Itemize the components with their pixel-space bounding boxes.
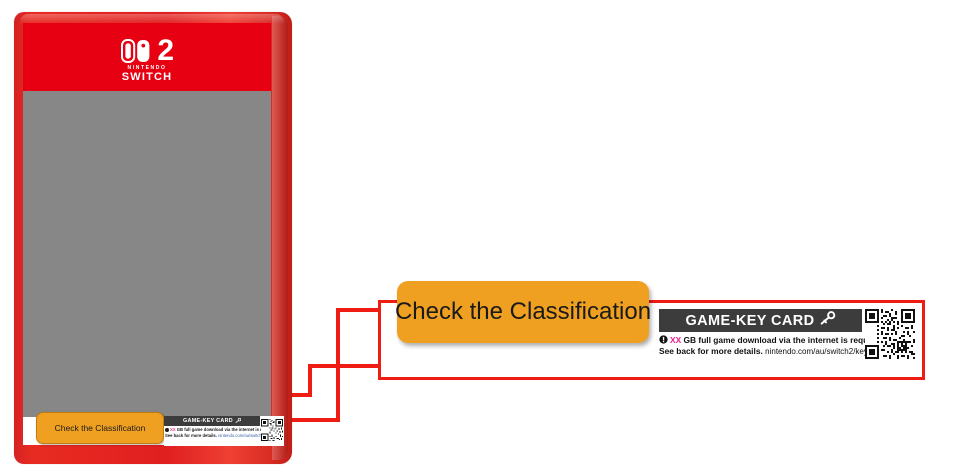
case-spine — [272, 16, 288, 460]
nintendo-switch-wordmark: NINTENDO SWITCH — [23, 65, 271, 83]
exclamation-icon — [165, 428, 169, 432]
case-keycard-line-2: See back for more details. nintendo.com/… — [165, 433, 259, 439]
keycard-line-2-text: See back for more details. — [659, 346, 763, 356]
nintendo-switch-logo: 2 — [23, 39, 271, 63]
case-keycard-text-block: GAME-KEY CARD XX GB full game download v… — [164, 416, 260, 446]
case-cover-art: 2 NINTENDO SWITCH — [23, 23, 271, 445]
cover-art-placeholder — [23, 91, 271, 417]
case-keycard-body: XX GB full game download via the interne… — [164, 426, 260, 446]
case-keycard-size-placeholder: XX — [170, 427, 176, 432]
exclamation-icon — [659, 335, 668, 344]
nintendo-switch-logo-icon — [121, 39, 151, 63]
qr-code-icon — [865, 309, 915, 359]
keycard-line-2: See back for more details. nintendo.com/… — [659, 346, 862, 357]
keycard-line-1: XX GB full game download via the interne… — [659, 335, 862, 346]
case-classification-button[interactable]: Check the Classification — [36, 412, 164, 444]
switch-product-text: SWITCH — [23, 71, 271, 83]
key-icon — [820, 311, 836, 330]
case-keycard-header-text: GAME-KEY CARD — [183, 418, 233, 424]
keycard-line-1-rest: GB full game download via the internet i… — [684, 335, 886, 345]
keycard-header-text: GAME-KEY CARD — [686, 313, 815, 329]
leader-line-keycard — [282, 366, 378, 395]
cover-header-band: 2 NINTENDO SWITCH — [23, 23, 271, 91]
switch-2-numeral: 2 — [157, 39, 173, 63]
classification-callout-button[interactable]: Check the Classification — [397, 281, 649, 343]
keycard-body: XX GB full game download via the interne… — [659, 332, 862, 357]
keycard-text-block: GAME-KEY CARD XX GB full game d — [659, 309, 862, 357]
classification-callout-label: Check the Classification — [395, 298, 651, 326]
keycard-detail: GAME-KEY CARD XX GB full game d — [659, 309, 915, 371]
keycard-header-bar: GAME-KEY CARD — [659, 309, 862, 332]
key-icon — [235, 418, 241, 425]
case-keycard-line-2-text: See back for more details. — [165, 433, 217, 438]
qr-code-icon — [260, 416, 284, 444]
case-keycard-label: GAME-KEY CARD XX GB full game download v… — [164, 416, 284, 446]
game-case: 2 NINTENDO SWITCH Check the Classificati… — [14, 12, 292, 464]
case-classification-button-label: Check the Classification — [55, 423, 146, 433]
keycard-size-placeholder: XX — [670, 335, 681, 345]
case-keycard-header: GAME-KEY CARD — [164, 416, 260, 426]
